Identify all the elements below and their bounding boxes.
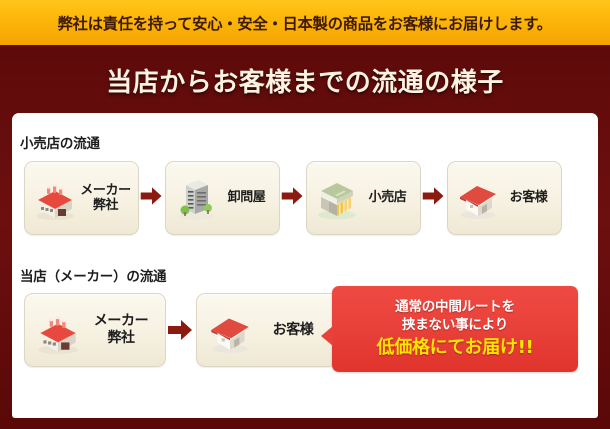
arrow-right-icon: [280, 183, 306, 213]
flow-step-label: 小売店: [361, 190, 414, 205]
section-label-direct: 当店（メーカー）の流通: [20, 265, 166, 285]
page-title-text: 当店からお客様までの流通の様子: [106, 62, 504, 99]
flow-row-retail: メーカー 弊社: [24, 161, 562, 235]
house-icon: [205, 306, 257, 354]
factory-icon: [31, 174, 79, 222]
arrow-right-icon: [166, 315, 196, 345]
callout-tail: [321, 326, 333, 346]
flow-step-maker[interactable]: メーカー 弊社: [24, 161, 139, 235]
retail-shop-icon: [313, 174, 361, 222]
callout-emphasis: 低価格にてお届け!!: [377, 336, 534, 359]
flow-step-label: 卸問屋: [220, 190, 273, 205]
flow-step-retailer[interactable]: 小売店: [306, 161, 421, 235]
flow-step-label: メーカー 弊社: [79, 183, 132, 214]
office-building-icon: [172, 174, 220, 222]
page-title: 当店からお客様までの流通の様子: [0, 56, 610, 104]
arrow-right-icon: [421, 183, 447, 213]
flow-step-customer-direct[interactable]: お客様: [196, 293, 338, 367]
infographic-root: 弊社は責任を持って安心・安全・日本製の商品をお客様にお届けします。 当店からお客…: [0, 0, 610, 429]
flow-step-label: お客様: [502, 190, 555, 205]
callout-line-1: 通常の中間ルートを: [395, 299, 515, 317]
top-banner-text: 弊社は責任を持って安心・安全・日本製の商品をお客様にお届けします。: [58, 12, 552, 34]
house-icon: [454, 174, 502, 222]
flow-step-wholesaler[interactable]: 卸問屋: [165, 161, 280, 235]
arrow-right-icon: [139, 183, 165, 213]
flow-step-customer[interactable]: お客様: [447, 161, 562, 235]
price-callout: 通常の中間ルートを 挟まない事により 低価格にてお届け!!: [332, 286, 578, 372]
flow-step-label: メーカー 弊社: [85, 313, 157, 346]
top-banner: 弊社は責任を持って安心・安全・日本製の商品をお客様にお届けします。: [0, 0, 610, 45]
factory-icon: [33, 306, 85, 354]
section-label-retail: 小売店の流通: [20, 132, 100, 152]
flow-step-maker-direct[interactable]: メーカー 弊社: [24, 293, 166, 367]
callout-line-2: 挟まない事により: [402, 317, 508, 335]
flow-step-label: お客様: [257, 322, 329, 339]
flow-row-direct: メーカー 弊社 お客様: [24, 293, 338, 367]
